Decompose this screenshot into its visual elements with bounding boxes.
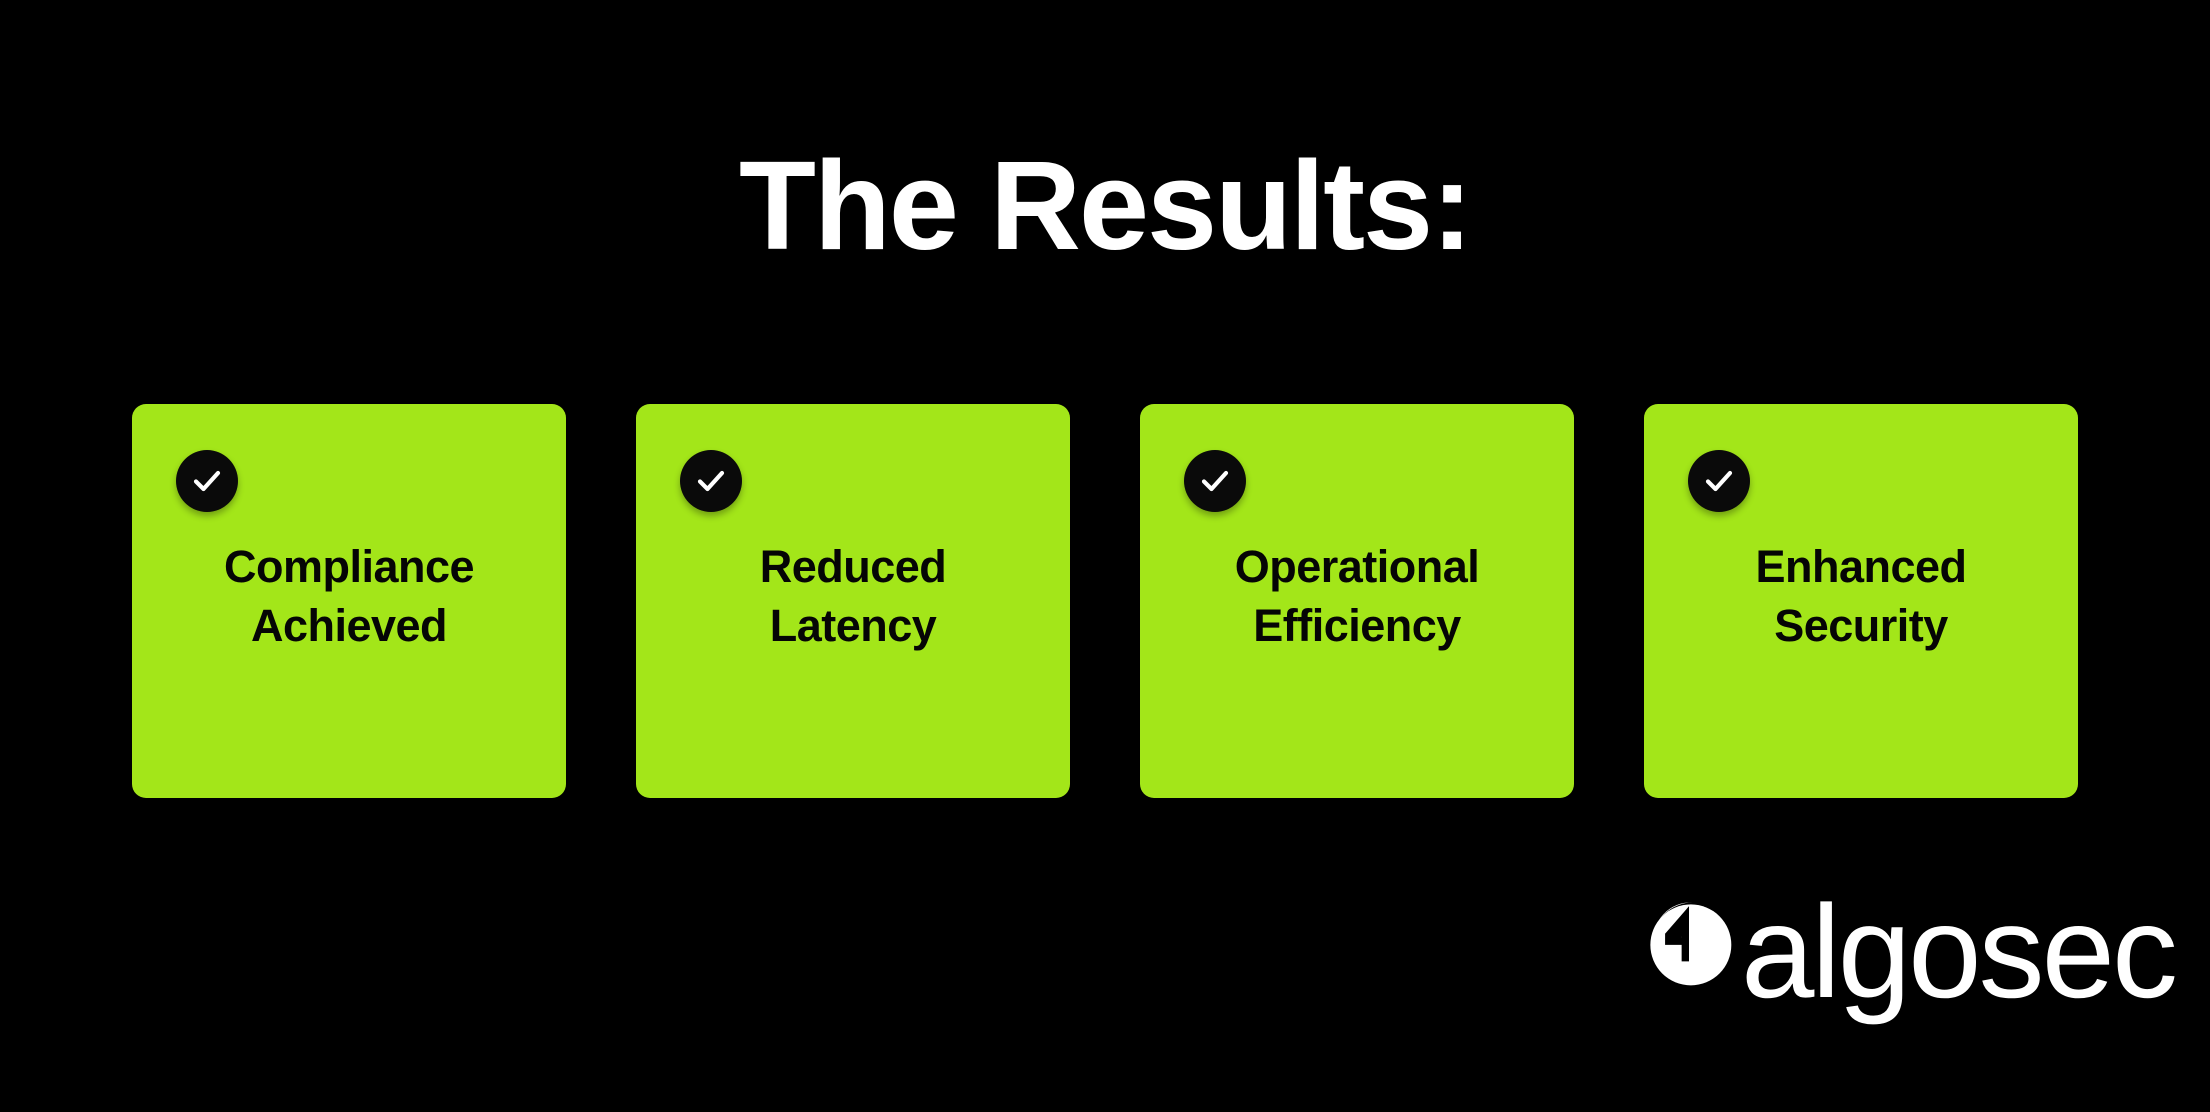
result-card-label-line2: Security	[1666, 597, 2056, 656]
slide-canvas: The Results: Compliance Achieved	[0, 0, 2210, 1112]
result-card-label: Reduced Latency	[658, 538, 1048, 655]
result-card-label-line2: Efficiency	[1162, 597, 1552, 656]
result-card-compliance-achieved[interactable]: Compliance Achieved	[132, 404, 566, 798]
result-card-label-line1: Reduced	[658, 538, 1048, 597]
result-card-label-line1: Operational	[1162, 538, 1552, 597]
check-badge	[176, 450, 238, 512]
results-card-row: Compliance Achieved Reduced Latency	[132, 404, 2078, 798]
check-icon	[1197, 463, 1233, 499]
check-badge	[1688, 450, 1750, 512]
brand-logo: algosec	[1643, 876, 2175, 1016]
check-badge-wrapper	[680, 450, 742, 512]
check-badge	[680, 450, 742, 512]
result-card-label: Operational Efficiency	[1162, 538, 1552, 655]
result-card-label: Compliance Achieved	[154, 538, 544, 655]
algosec-wordmark: algosec	[1741, 886, 2175, 1018]
check-icon	[1701, 463, 1737, 499]
check-badge-wrapper	[1688, 450, 1750, 512]
result-card-label-line1: Enhanced	[1666, 538, 2056, 597]
result-card-enhanced-security[interactable]: Enhanced Security	[1644, 404, 2078, 798]
check-badge	[1184, 450, 1246, 512]
result-card-label-line2: Achieved	[154, 597, 544, 656]
check-badge-wrapper	[1184, 450, 1246, 512]
result-card-label-line2: Latency	[658, 597, 1048, 656]
algosec-mark-svg	[1643, 897, 1735, 989]
result-card-label-line1: Compliance	[154, 538, 544, 597]
check-badge-wrapper	[176, 450, 238, 512]
check-icon	[693, 463, 729, 499]
result-card-label: Enhanced Security	[1666, 538, 2056, 655]
result-card-reduced-latency[interactable]: Reduced Latency	[636, 404, 1070, 798]
page-title: The Results:	[0, 140, 2210, 272]
result-card-operational-efficiency[interactable]: Operational Efficiency	[1140, 404, 1574, 798]
algosec-logo-mark-icon	[1643, 897, 1735, 989]
check-icon	[189, 463, 225, 499]
